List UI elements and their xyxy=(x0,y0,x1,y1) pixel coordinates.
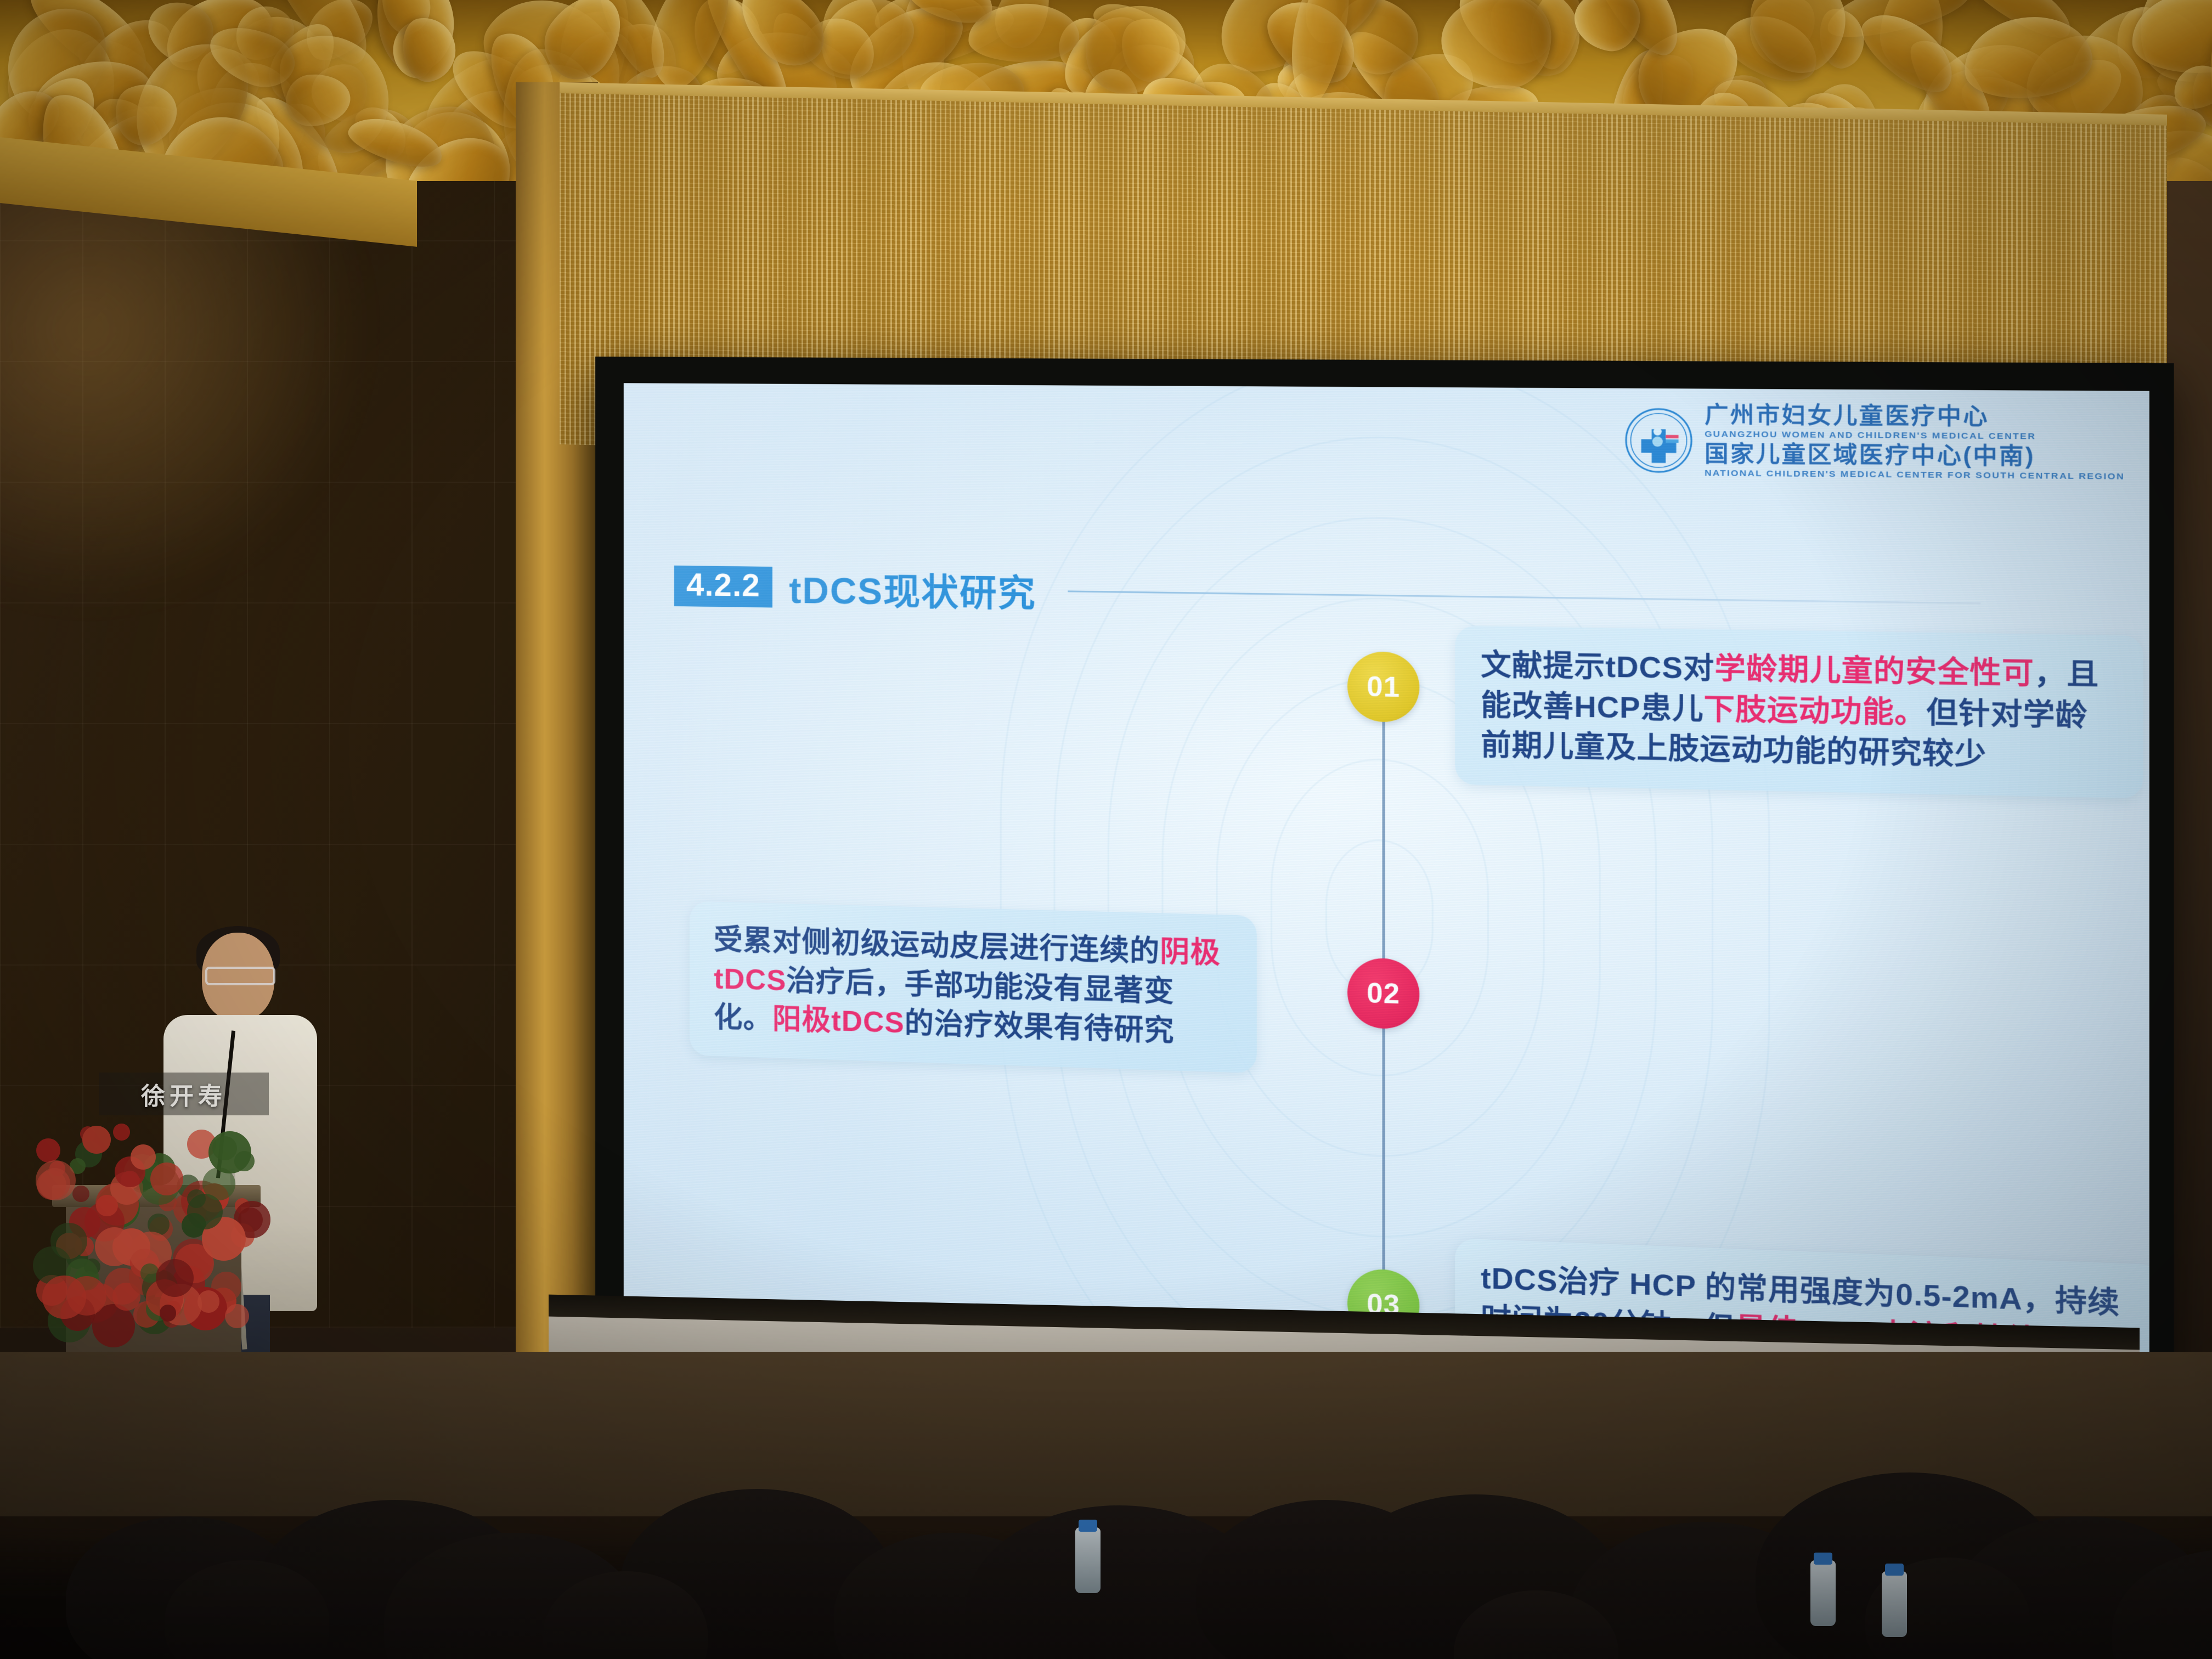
text-run-1: 学龄期儿童的安全性可 xyxy=(1714,652,2034,691)
text-run-0: 文献提示tDCS对 xyxy=(1481,649,1714,686)
speaker-name-overlay: 徐开寿 xyxy=(99,1073,269,1115)
water-bottle-cap xyxy=(1814,1553,1832,1565)
step-card-01: 文献提示tDCS对学龄期儿童的安全性可，且能改善HCP患儿下肢运动功能。但针对学… xyxy=(1455,625,2143,798)
page-title: tDCS现状研究 xyxy=(789,561,1036,617)
flower-blossom xyxy=(96,1195,118,1217)
step-card-02: 受累对侧初级运动皮层进行连续的阴极tDCS治疗后，手部功能没有显著变化。阳极tD… xyxy=(690,901,1257,1073)
water-bottle-cap xyxy=(1079,1520,1097,1532)
speaker-glasses xyxy=(205,967,275,985)
flower-blossom xyxy=(72,1186,89,1203)
flower-blossom xyxy=(95,1227,134,1266)
flower-blossom xyxy=(202,1167,235,1200)
flower-blossom xyxy=(36,1160,76,1200)
logo-en-line1: GUANGZHOU WOMEN AND CHILDREN'S MEDICAL C… xyxy=(1705,430,2125,442)
water-bottle-cap xyxy=(1885,1564,1904,1576)
step-card-01-text: 文献提示tDCS对学龄期儿童的安全性可，且能改善HCP患儿下肢运动功能。但针对学… xyxy=(1481,645,2116,778)
flower-blossom xyxy=(150,1163,183,1195)
logo-cn-line2: 国家儿童区域医疗中心(中南) xyxy=(1705,443,2125,469)
logo-en-line2: NATIONAL CHILDREN'S MEDICAL CENTER FOR S… xyxy=(1705,469,2125,481)
step-marker-02: 02 xyxy=(1347,957,1419,1030)
title-divider xyxy=(1068,590,1981,604)
flower-blossom xyxy=(234,1151,254,1171)
step-marker-01: 01 xyxy=(1347,651,1419,723)
hospital-emblem-icon xyxy=(1624,407,1694,475)
conference-hall-photo: 广州市妇女儿童医疗中心 GUANGZHOU WOMEN AND CHILDREN… xyxy=(0,0,2212,1659)
flower-blossom xyxy=(82,1126,110,1154)
text-run-4: 的治疗效果有待研究 xyxy=(905,1007,1175,1048)
presentation-slide: 广州市妇女儿童医疗中心 GUANGZHOU WOMEN AND CHILDREN… xyxy=(624,383,2149,1431)
water-bottle xyxy=(1882,1571,1907,1637)
logo-cn-line1: 广州市妇女儿童医疗中心 xyxy=(1705,404,2125,430)
water-bottle xyxy=(1810,1560,1836,1626)
flower-blossom xyxy=(212,1136,237,1161)
water-bottle xyxy=(1075,1527,1101,1593)
flower-blossom xyxy=(50,1223,87,1260)
step-card-02-text: 受累对侧初级运动皮层进行连续的阴极tDCS治疗后，手部功能没有显著变化。阳极tD… xyxy=(714,921,1232,1053)
section-number-badge: 4.2.2 xyxy=(674,566,772,608)
flower-blossom xyxy=(187,1189,206,1208)
slide-title-row: 4.2.2 tDCS现状研究 xyxy=(674,560,1980,631)
hospital-logo: 广州市妇女儿童医疗中心 GUANGZHOU WOMEN AND CHILDREN… xyxy=(1624,403,2125,482)
speaker-name-text: 徐开寿 xyxy=(141,1076,227,1111)
text-run-3: 下肢运动功能。 xyxy=(1704,692,1927,730)
text-run-3: 阳极tDCS xyxy=(772,1003,905,1040)
text-run-0: 受累对侧初级运动皮层进行连续的 xyxy=(714,924,1160,968)
flower-blossom xyxy=(131,1144,156,1170)
audience-silhouettes xyxy=(0,1275,2212,1659)
flower-blossom xyxy=(36,1138,60,1163)
chandelier-glass-petal xyxy=(1569,0,1644,56)
flower-blossom xyxy=(113,1124,130,1141)
